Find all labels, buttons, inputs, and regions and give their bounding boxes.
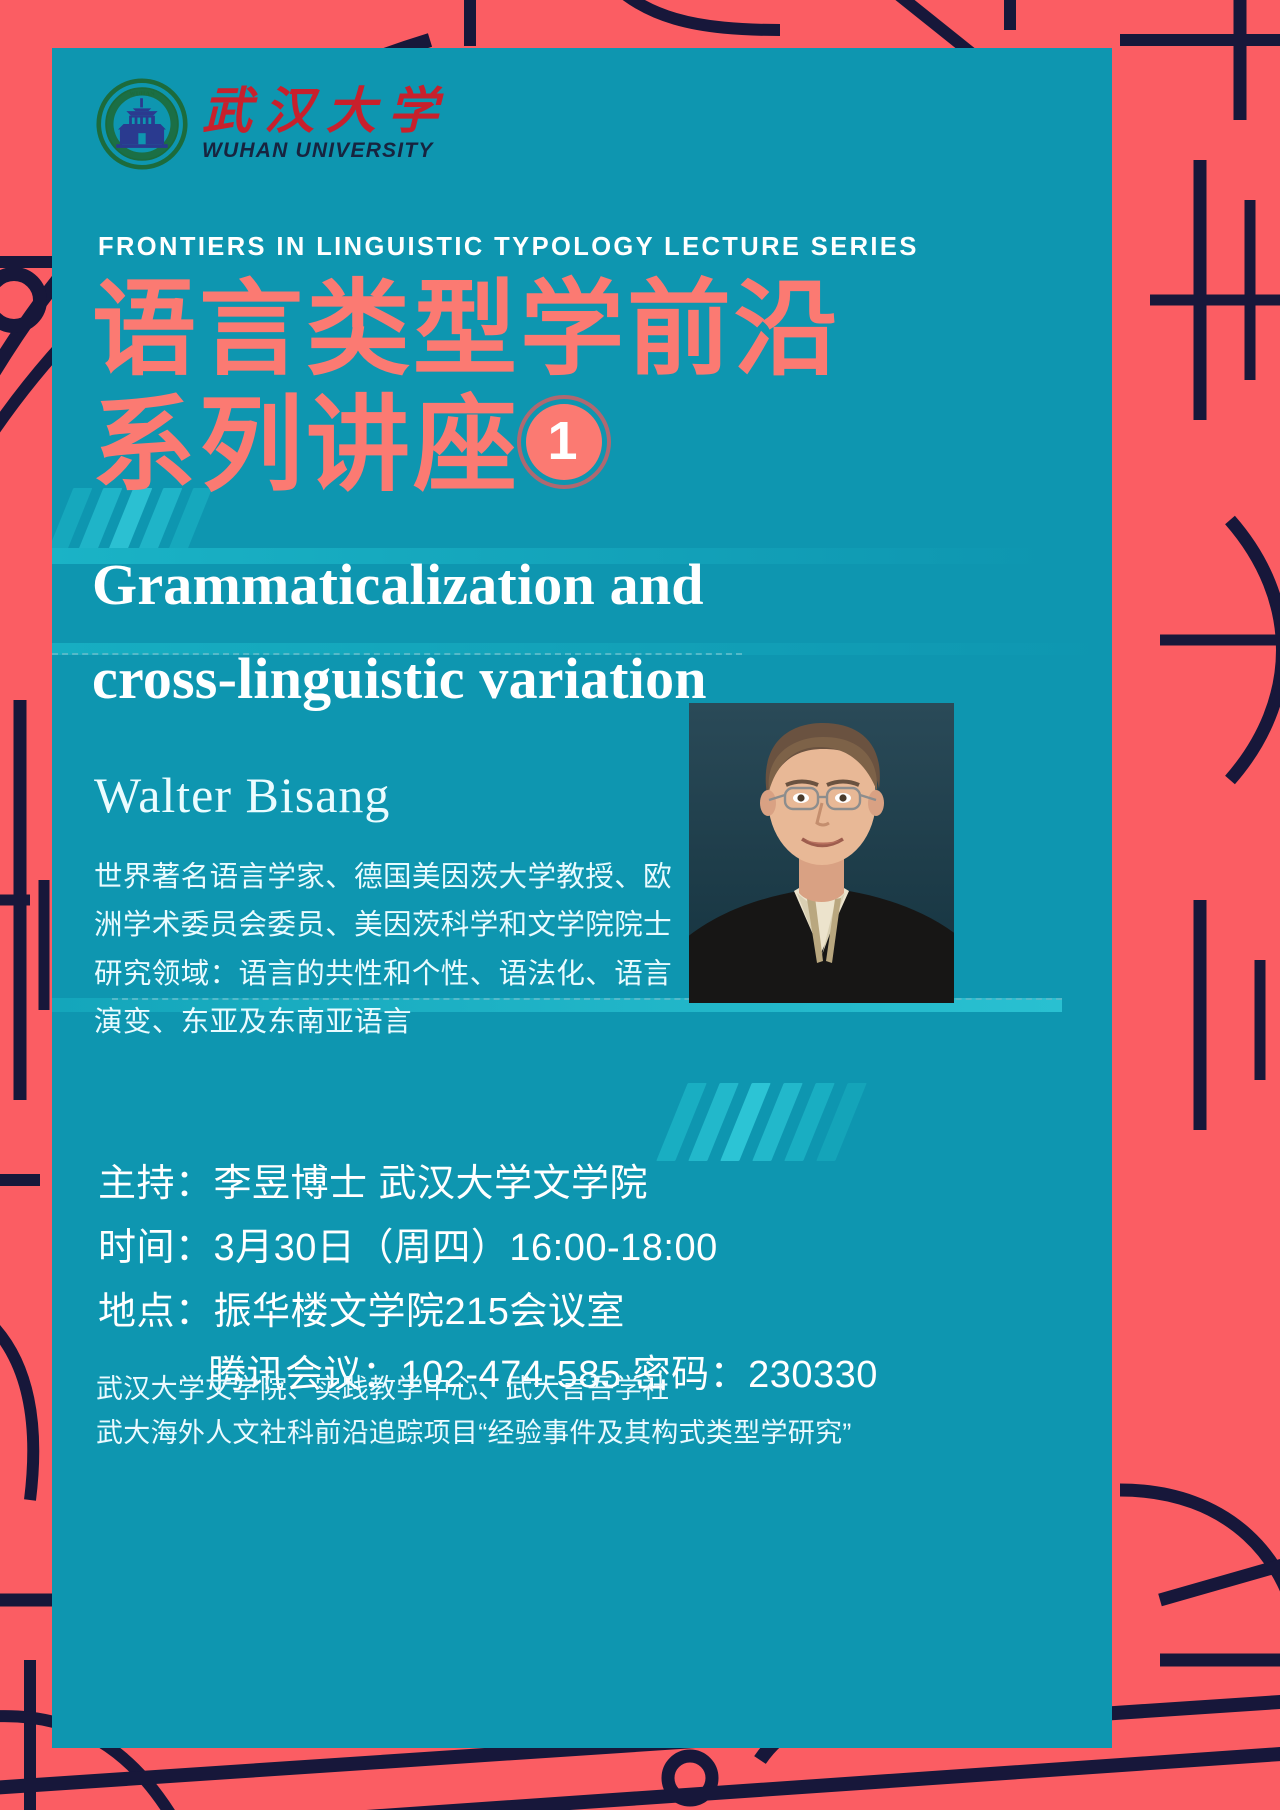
- organizer-line-2: 武大海外人文社科前沿追踪项目“经验事件及其构式类型学研究”: [96, 1412, 852, 1456]
- organizer-line-1: 武汉大学文学院、实践教学中心、武大言吾学社: [96, 1368, 852, 1412]
- lecture-title-line1: Grammaticalization and: [92, 538, 972, 632]
- stripe-decoration-lower: [656, 1083, 867, 1161]
- chinese-title-line1: 语言类型学前沿: [92, 273, 841, 389]
- wuhan-university-seal-icon: WUHAN: [96, 78, 188, 170]
- detail-venue: 地点：振华楼文学院215会议室: [98, 1281, 878, 1345]
- lecture-title: Grammaticalization and cross-linguistic …: [92, 538, 972, 726]
- svg-text:WUHAN: WUHAN: [129, 90, 155, 97]
- series-number-badge: 1: [526, 404, 602, 480]
- bio-line-1: 世界著名语言学家、德国美因茨大学教授、欧: [94, 853, 719, 901]
- speaker-name: Walter Bisang: [94, 766, 390, 824]
- detail-host: 主持：李昱博士 武汉大学文学院: [98, 1153, 878, 1217]
- speaker-portrait: [689, 703, 954, 1003]
- detail-time: 时间：3月30日（周四）16:00-18:00: [98, 1217, 878, 1281]
- bio-line-3: 研究领域：语言的共性和个性、语法化、语言: [94, 950, 719, 998]
- university-logo: WUHAN 武汉大学 WUHAN UNIVERSITY: [96, 78, 450, 170]
- organizers: 武汉大学文学院、实践教学中心、武大言吾学社 武大海外人文社科前沿追踪项目“经验事…: [96, 1368, 852, 1455]
- logo-english-name: WUHAN UNIVERSITY: [202, 139, 450, 163]
- chinese-title-line2: 系列讲座: [92, 389, 520, 505]
- logo-chinese-name: 武汉大学: [202, 85, 450, 138]
- bio-line-2: 洲学术委员会委员、美因茨科学和文学院院士: [94, 901, 719, 949]
- poster-card: WUHAN 武汉大学 WUHAN UNIVERSITY FRONTIERS IN…: [52, 48, 1112, 1748]
- lecture-poster: WUHAN 武汉大学 WUHAN UNIVERSITY FRONTIERS IN…: [0, 0, 1280, 1810]
- series-kicker: FRONTIERS IN LINGUISTIC TYPOLOGY LECTURE…: [98, 233, 919, 262]
- divider-dashed-title: [52, 653, 742, 655]
- chinese-title: 语言类型学前沿 系列讲座 1: [92, 273, 841, 506]
- speaker-bio: 世界著名语言学家、德国美因茨大学教授、欧 洲学术委员会委员、美因茨科学和文学院院…: [94, 853, 719, 1047]
- bio-line-4: 演变、东亚及东南亚语言: [94, 998, 719, 1046]
